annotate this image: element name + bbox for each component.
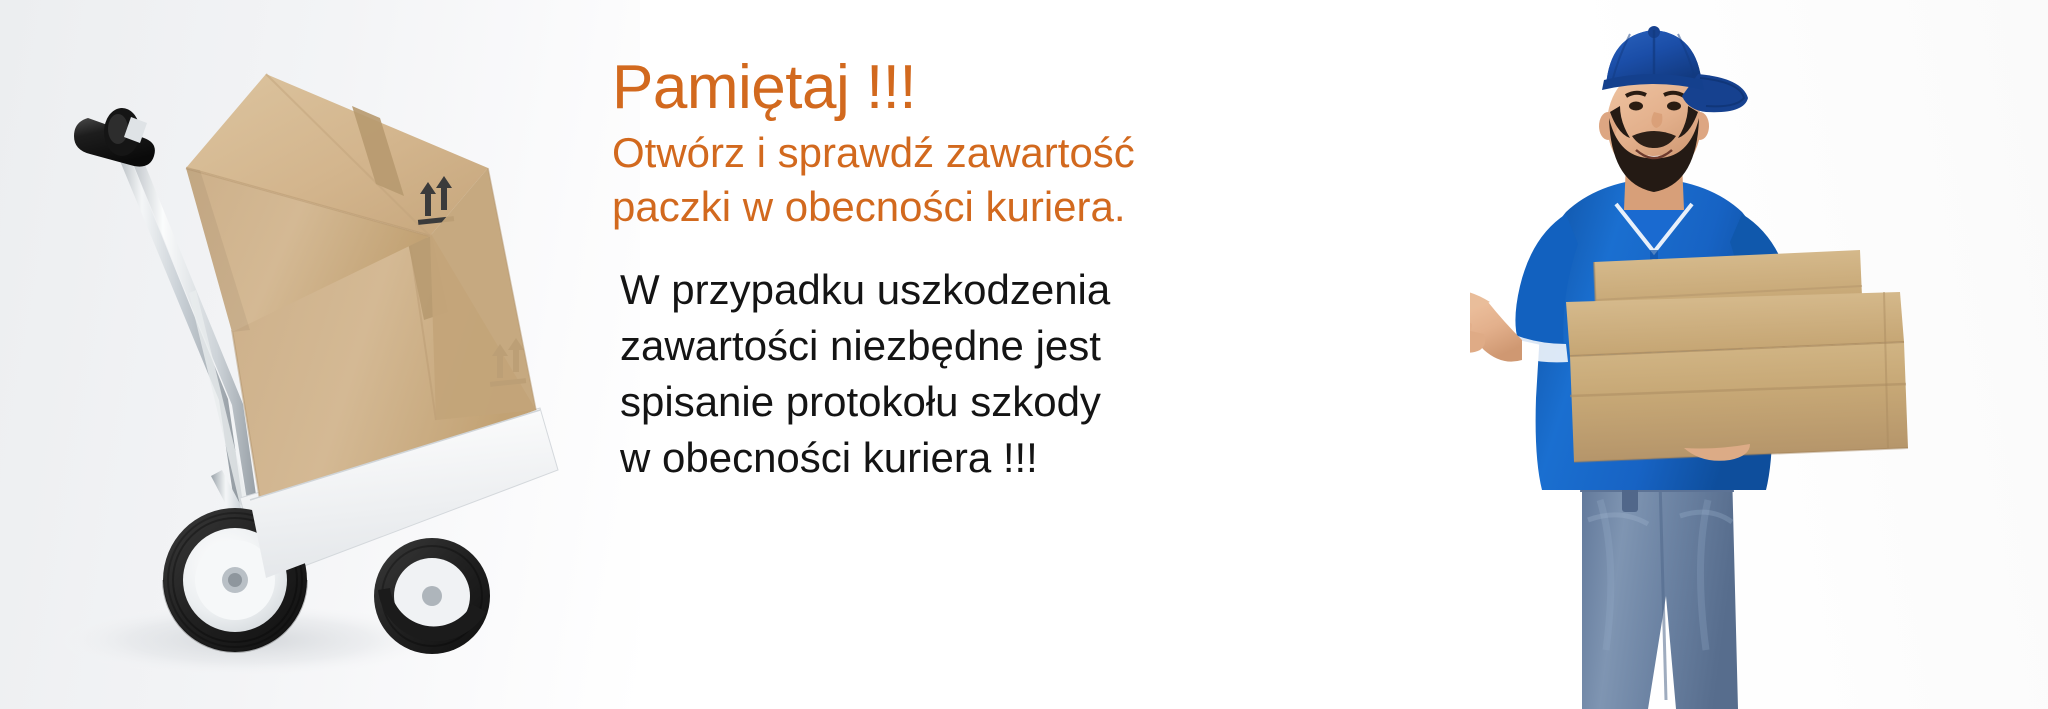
pointing-hand <box>1470 269 1522 362</box>
instruction-paragraph: Otwórz i sprawdź zawartość paczki w obec… <box>612 126 1212 234</box>
damage-procedure-paragraph: W przypadku uszkodzenia zawartości niezb… <box>612 262 1212 485</box>
damage-line-2: zawartości niezbędne jest <box>620 318 1212 374</box>
notice-text-block: Pamiętaj !!! Otwórz i sprawdź zawartość … <box>612 56 1212 485</box>
instruction-line-1: Otwórz i sprawdź zawartość <box>612 126 1212 180</box>
damage-line-4: w obecności kuriera !!! <box>620 430 1212 486</box>
damage-line-1: W przypadku uszkodzenia <box>620 262 1212 318</box>
instruction-line-2: paczki w obecności kuriera. <box>612 180 1212 234</box>
hand-truck-with-cardboard-boxes <box>0 0 640 709</box>
damage-line-3: spisanie protokołu szkody <box>620 374 1212 430</box>
blue-jeans <box>1580 470 1738 709</box>
delivery-notice-banner: Pamiętaj !!! Otwórz i sprawdź zawartość … <box>0 0 2048 709</box>
page-title: Pamiętaj !!! <box>612 56 1212 120</box>
bearded-face <box>1599 26 1748 210</box>
handle-grip <box>74 108 155 167</box>
delivery-courier-pointing-left <box>1470 0 2048 709</box>
held-cardboard-box-lower <box>1566 292 1908 462</box>
